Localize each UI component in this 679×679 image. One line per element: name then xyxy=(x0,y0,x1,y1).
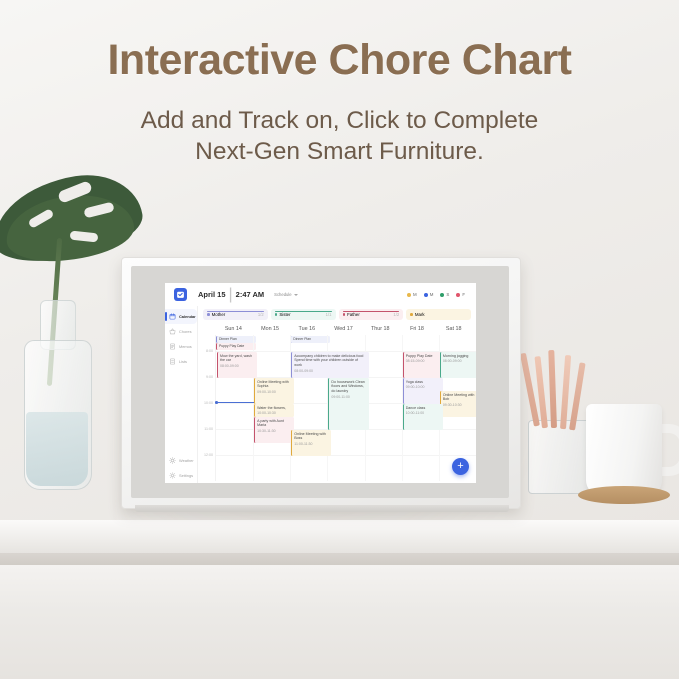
time-label: 12:00 xyxy=(204,453,213,457)
table-front-panel xyxy=(0,565,679,679)
hour-gridline xyxy=(216,455,476,456)
avatar-initial: S xyxy=(446,292,449,297)
member-task-count: 1/1 xyxy=(326,312,332,317)
avatar-1[interactable]: M xyxy=(424,292,434,297)
avatar-dot xyxy=(456,293,460,297)
avatar-2[interactable]: S xyxy=(440,292,449,297)
avatar-initial: F xyxy=(462,292,465,297)
member-name: Father xyxy=(343,312,360,317)
calendar-app: April 15 | 2:47 AM Schedule MMSF Calenda… xyxy=(165,283,476,483)
event-title: Water the flowers, xyxy=(257,406,292,411)
sidebar-spacer xyxy=(165,369,197,453)
page-subtitle: Add and Track on, Click to Complete Next… xyxy=(0,105,679,168)
subtitle-line-1: Add and Track on, Click to Complete xyxy=(0,105,679,136)
sidebar-item-settings[interactable]: Settings xyxy=(165,468,197,483)
avatar-dot xyxy=(424,293,428,297)
basket-icon xyxy=(169,328,176,335)
sidebar-item-label: Chores xyxy=(179,329,192,334)
current-time-indicator xyxy=(216,402,254,403)
note-icon xyxy=(169,343,176,350)
event-title: Dinner Plan xyxy=(219,337,254,342)
day-header-5[interactable]: Fri 18 xyxy=(399,326,436,332)
allday-event[interactable]: Puppy Play Date xyxy=(216,343,256,350)
calendar-grid[interactable]: + Dinner PlanPuppy Play DateDinner PlanM… xyxy=(215,335,476,481)
allday-event[interactable]: Dinner Plan xyxy=(216,336,256,343)
member-name: Mother xyxy=(207,312,225,317)
day-header-2[interactable]: Tue 16 xyxy=(288,326,325,332)
event-title: Online Meeting with Sophia xyxy=(257,380,292,390)
calendar-event[interactable]: Puppy Play Date08:15-09:00 xyxy=(403,352,443,378)
event-title: Morning jogging xyxy=(443,354,476,359)
event-title: Online Meeting with Bob xyxy=(443,393,476,403)
calendar-event[interactable]: Dance class10:00-11:00 xyxy=(403,404,443,430)
member-name: Sister xyxy=(275,312,291,317)
member-progress-bar xyxy=(343,311,400,312)
day-header-6[interactable]: Sat 18 xyxy=(435,326,472,332)
day-header-3[interactable]: Wed 17 xyxy=(325,326,362,332)
member-task-count: 1/2 xyxy=(258,312,264,317)
event-time: 09:00-10:00 xyxy=(257,390,292,395)
add-event-button[interactable]: + xyxy=(452,458,469,475)
member-name: Mark xyxy=(410,312,424,317)
calendar-content: Mother1/2Sister1/1Father1/2Mark Sun 14Mo… xyxy=(198,306,476,483)
calendar-event[interactable]: Yoga class09:00-10:00 xyxy=(403,378,443,404)
calendar-event[interactable]: A party with Aunt Maria10:30-11:30 xyxy=(254,417,294,443)
gear-icon xyxy=(169,472,176,479)
subtitle-line-2: Next-Gen Smart Furniture. xyxy=(0,136,679,167)
calendar-event[interactable]: Online Meeting with Bob09:30-10:30 xyxy=(440,391,476,417)
event-time: 11:00-11:30 xyxy=(294,442,329,447)
event-time: 09:00-10:00 xyxy=(406,385,441,390)
day-header-row: Sun 14Mon 15Tue 16Wed 17Thur 18Fri 18Sat… xyxy=(198,322,476,335)
avatar-3[interactable]: F xyxy=(456,292,465,297)
sidebar-item-memos[interactable]: Memos xyxy=(165,339,197,354)
current-date: April 15 xyxy=(198,290,226,299)
view-selector-label: Schedule xyxy=(274,292,291,297)
day-header-4[interactable]: Thur 18 xyxy=(362,326,399,332)
member-avatars: MMSF xyxy=(407,292,469,297)
event-time: 10:00-11:00 xyxy=(406,411,441,416)
avatar-dot xyxy=(407,293,411,297)
cork-coaster xyxy=(578,486,670,504)
display-screen: April 15 | 2:47 AM Schedule MMSF Calenda… xyxy=(165,283,476,483)
member-color-dot xyxy=(207,313,210,316)
avatar-initial: M xyxy=(413,292,417,297)
event-title: Mow the yard, wash the car xyxy=(220,354,255,364)
event-time: 09:00-11:00 xyxy=(331,395,366,400)
member-card-father[interactable]: Father1/2 xyxy=(339,309,404,320)
sidebar-item-label: Settings xyxy=(179,473,193,478)
event-time: 08:00-09:00 xyxy=(443,359,476,364)
event-time: 08:15-09:00 xyxy=(406,359,441,364)
sidebar-item-weather[interactable]: Weather xyxy=(165,453,197,468)
time-label: 11:00 xyxy=(204,427,213,431)
calendar-grid-wrapper: 8:009:0010:0011:0012:00 + Dinner PlanPup… xyxy=(198,335,476,483)
pencil-holder xyxy=(528,420,592,494)
calendar-icon xyxy=(169,313,176,320)
event-title: Online Meeting with Boss xyxy=(294,432,329,442)
member-task-count: 1/2 xyxy=(393,312,399,317)
sidebar-item-chores[interactable]: Chores xyxy=(165,324,197,339)
avatar-0[interactable]: M xyxy=(407,292,417,297)
event-title: A party with Aunt Maria xyxy=(257,419,292,429)
event-title: Puppy Play Date xyxy=(406,354,441,359)
app-topbar: April 15 | 2:47 AM Schedule MMSF xyxy=(165,283,476,306)
calendar-event[interactable]: Do housework Clean floors and Windows, d… xyxy=(328,378,368,430)
event-time: 10:00-10:30 xyxy=(257,411,292,416)
view-selector[interactable]: Schedule xyxy=(274,292,297,297)
member-card-mark[interactable]: Mark xyxy=(406,309,471,320)
day-header-0[interactable]: Sun 14 xyxy=(215,326,252,332)
app-body: CalendarChoresMemosLists WeatherSettings… xyxy=(165,306,476,483)
avatar-initial: M xyxy=(430,292,434,297)
member-progress-bar xyxy=(207,311,264,312)
device-base xyxy=(135,505,509,512)
sidebar-item-label: Memos xyxy=(179,344,192,349)
member-progress-strip: Mother1/2Sister1/1Father1/2Mark xyxy=(198,306,476,322)
member-card-sister[interactable]: Sister1/1 xyxy=(271,309,336,320)
member-progress-bar xyxy=(275,311,332,312)
event-title: Dance class xyxy=(406,406,441,411)
time-label: 9:00 xyxy=(206,375,213,379)
event-title: Dinner Plan xyxy=(293,337,328,342)
product-photo-scene: Interactive Chore Chart Add and Track on… xyxy=(0,0,679,679)
time-label: 8:00 xyxy=(206,349,213,353)
avatar-dot xyxy=(440,293,444,297)
event-time: 08:00-09:00 xyxy=(294,369,366,374)
date-time-separator: | xyxy=(229,286,233,304)
calendar-event[interactable]: Water the flowers,10:00-10:30 xyxy=(254,404,294,417)
event-title: Puppy Play Date xyxy=(219,344,254,349)
calendar-check-icon[interactable] xyxy=(174,288,187,301)
day-header-1[interactable]: Mon 15 xyxy=(252,326,289,332)
calendar-event[interactable]: Online Meeting with Sophia09:00-10:00 xyxy=(254,378,294,404)
member-card-mother[interactable]: Mother1/2 xyxy=(203,309,268,320)
member-color-dot xyxy=(410,313,413,316)
sidebar-item-lists[interactable]: Lists xyxy=(165,354,197,369)
page-title: Interactive Chore Chart xyxy=(0,36,679,85)
event-title: Yoga class xyxy=(406,380,441,385)
event-time: 10:30-11:30 xyxy=(257,429,292,434)
member-color-dot xyxy=(343,313,346,316)
member-color-dot xyxy=(275,313,278,316)
sidebar-item-calendar[interactable]: Calendar xyxy=(165,309,197,324)
time-label: 10:00 xyxy=(204,401,213,405)
current-time: 2:47 AM xyxy=(236,290,264,299)
event-title: Do housework Clean floors and Windows, d… xyxy=(331,380,366,395)
calendar-event[interactable]: Mow the yard, wash the car08:00-09:00 xyxy=(217,352,257,378)
chevron-down-icon xyxy=(294,294,298,296)
calendar-event[interactable]: Accompany children to make delicious foo… xyxy=(291,352,368,378)
calendar-event[interactable]: Online Meeting with Boss11:00-11:30 xyxy=(291,430,331,456)
event-time: 09:30-10:30 xyxy=(443,403,476,408)
coffee-mug xyxy=(586,404,662,496)
sidebar-bottom-items: WeatherSettings xyxy=(165,453,197,483)
sidebar: CalendarChoresMemosLists WeatherSettings xyxy=(165,306,198,483)
vase-water xyxy=(26,412,88,486)
sidebar-item-label: Lists xyxy=(179,359,187,364)
time-axis: 8:009:0010:0011:0012:00 xyxy=(198,335,215,481)
event-time: 08:00-09:00 xyxy=(220,364,255,369)
sun-icon xyxy=(169,457,176,464)
list-icon xyxy=(169,358,176,365)
sidebar-top-items: CalendarChoresMemosLists xyxy=(165,309,197,369)
calendar-event[interactable]: Morning jogging08:00-09:00 xyxy=(440,352,476,378)
allday-event[interactable]: Dinner Plan xyxy=(290,336,330,343)
sidebar-item-label: Calendar xyxy=(179,314,196,319)
event-title: Accompany children to make delicious foo… xyxy=(294,354,366,369)
current-time-dot xyxy=(215,401,218,404)
sidebar-item-label: Weather xyxy=(179,458,194,463)
